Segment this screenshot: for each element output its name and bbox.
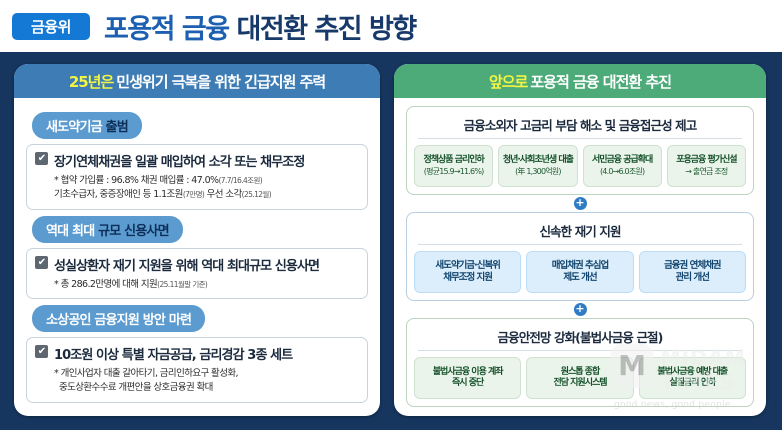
card-sub-line2: 중도상환수수료 개편안을 상호금융권 확대 <box>54 381 213 395</box>
chip-item: 서민금융 공급확대 (4.0→6.0조원) <box>583 145 662 187</box>
section-divider <box>418 138 742 139</box>
chip-value: → 출연금 조정 <box>685 167 727 177</box>
card-sub-line1: * 협약 가입률 : 96.8% 채권 매입률 : 47.0% <box>54 175 218 186</box>
section-divider <box>418 350 742 351</box>
chip-label: 서민금융 공급확대 <box>592 155 652 166</box>
chip-row: 불법사금융 이용 계좌즉시 중단 원스톱 종합전담 지원시스템 불법사금융 예방… <box>414 357 746 399</box>
left-panel-body: 새도약기금 출범 ✔ 장기연체채권을 일괄 매입하여 소각 또는 채무조정 * … <box>14 98 380 413</box>
chip-label: 원스톱 종합전담 지원시스템 <box>553 367 606 390</box>
left-panel-header-rest: 민생위기 극복을 위한 긴급지원 주력 <box>116 71 325 92</box>
chip-item: 불법사금융 예방 대출실질금리 인하 <box>639 357 746 399</box>
left-block-pill: 새도약기금 출범 <box>32 112 142 139</box>
card-sub-line2-note: (7만명) <box>183 190 204 199</box>
card-main-row: ✔ 장기연체채권을 일괄 매입하여 소각 또는 채무조정 <box>35 151 359 170</box>
pill-text-primary: 소상공인 금융지원 방안 마련 <box>46 313 191 328</box>
pill-text-primary: 새도약기금 <box>46 120 102 135</box>
page-title-highlight: 포용적 금융 <box>104 14 229 45</box>
chip-label: 새도약기금·신복위채무조정 지원 <box>435 260 500 284</box>
section-title: 금융안전망 강화(불법사금융 근절) <box>414 324 746 350</box>
chip-label: 청년·사회초년생 대출 <box>503 155 573 166</box>
page-title-rest: 대전환 추진 방향 <box>237 14 416 45</box>
card-main-row: ✔ 10조원 이상 특별 자금공급, 금리경감 3종 세트 <box>35 344 359 363</box>
left-block-pill: 소상공인 금융지원 방안 마련 <box>32 305 205 332</box>
content-stage: 25년은 민생위기 극복을 위한 긴급지원 주력 새도약기금 출범 ✔ 장기연체… <box>0 52 782 430</box>
chip-label: 매입채권 추심업제도 개선 <box>552 260 609 284</box>
chip-item: 매입채권 추심업제도 개선 <box>526 251 633 293</box>
chip-item: 금융권 연체채권관리 개선 <box>639 251 746 293</box>
card-sub-line2b: 우선 소각 <box>204 189 241 200</box>
card-main-text: 10조원 이상 특별 자금공급, 금리경감 3종 세트 <box>54 344 292 363</box>
chip-label: 불법사금융 예방 대출실질금리 인하 <box>657 367 727 390</box>
right-panel-header: 앞으로 포용적 금융 대전환 추진 <box>394 64 766 98</box>
right-panel-body: 금융소외자 고금리 부담 해소 및 금융접근성 제고 정책상품 금리인하 (평균… <box>394 98 766 416</box>
card-sub-line1-note: (7.7/16.4조원) <box>218 176 262 185</box>
check-icon: ✔ <box>35 256 48 269</box>
card-sub-line2: 기초수급자, 중증장애인 등 1.1조원 <box>54 189 183 200</box>
chip-value: (4.0→6.0조원) <box>600 167 644 177</box>
card-main-text: 장기연체채권을 일괄 매입하여 소각 또는 채무조정 <box>54 151 304 170</box>
chip-item: 불법사금융 이용 계좌즉시 중단 <box>414 357 521 399</box>
card-sub-line1: * 개인사업자 대출 갈아타기, 금리인하요구 활성화, <box>54 368 238 379</box>
right-section: 신속한 재기 지원 새도약기금·신복위채무조정 지원 매입채권 추심업제도 개선… <box>406 212 754 301</box>
left-block-card: ✔ 성실상환자 재기 지원을 위해 역대 최대규모 신용사면 * 총 286.2… <box>26 248 368 300</box>
plus-connector: + <box>406 301 754 318</box>
infographic-page: 금융위 포용적 금융 대전환 추진 방향 25년은 민생위기 극복을 위한 긴급… <box>0 0 782 430</box>
card-sub-line1-note: (25.11월말 기준) <box>157 280 207 289</box>
left-panel-header-highlight: 25년은 <box>69 71 113 92</box>
chip-row: 정책상품 금리인하 (평균15.9→11.6%) 청년·사회초년생 대출 (年 … <box>414 145 746 187</box>
pill-text-secondary: 출범 <box>106 120 128 135</box>
chip-label: 정책상품 금리인하 <box>423 155 483 166</box>
chip-value: (평균15.9→11.6%) <box>424 167 484 177</box>
chip-item: 원스톱 종합전담 지원시스템 <box>526 357 633 399</box>
chip-label: 불법사금융 이용 계좌즉시 중단 <box>433 367 503 390</box>
left-panel: 25년은 민생위기 극복을 위한 긴급지원 주력 새도약기금 출범 ✔ 장기연체… <box>14 64 380 416</box>
chip-value: (年 1,300억원) <box>515 167 561 177</box>
chip-label: 포용금융 평가신설 <box>676 155 736 166</box>
right-section: 금융소외자 고금리 부담 해소 및 금융접근성 제고 정책상품 금리인하 (평균… <box>406 106 754 195</box>
chip-item: 정책상품 금리인하 (평균15.9→11.6%) <box>414 145 493 187</box>
page-title: 포용적 금융 대전환 추진 방향 <box>104 7 416 46</box>
right-panel-header-highlight: 앞으로 <box>489 71 527 92</box>
left-panel-header: 25년은 민생위기 극복을 위한 긴급지원 주력 <box>14 64 380 98</box>
card-main-row: ✔ 성실상환자 재기 지원을 위해 역대 최대규모 신용사면 <box>35 255 359 274</box>
plus-icon: + <box>574 197 587 210</box>
left-block-pill: 역대 최대 규모 신용사면 <box>32 216 183 243</box>
page-header: 금융위 포용적 금융 대전환 추진 방향 <box>0 0 782 52</box>
chip-item: 포용금융 평가신설 → 출연금 조정 <box>667 145 746 187</box>
check-icon: ✔ <box>35 345 48 358</box>
chip-item: 청년·사회초년생 대출 (年 1,300억원) <box>498 145 577 187</box>
chip-item: 새도약기금·신복위채무조정 지원 <box>414 251 521 293</box>
card-main-text: 성실상환자 재기 지원을 위해 역대 최대규모 신용사면 <box>54 255 319 274</box>
card-sub-line2b-note: (25.12월) <box>242 190 271 199</box>
left-block-card: ✔ 10조원 이상 특별 자금공급, 금리경감 3종 세트 * 개인사업자 대출… <box>26 337 368 403</box>
pill-text-secondary: 규모 신용사면 <box>98 224 169 239</box>
chip-row: 새도약기금·신복위채무조정 지원 매입채권 추심업제도 개선 금융권 연체채권관… <box>414 251 746 293</box>
card-sub-text: * 개인사업자 대출 갈아타기, 금리인하요구 활성화, 중도상환수수료 개편안… <box>35 367 359 395</box>
section-divider <box>418 244 742 245</box>
left-block-card: ✔ 장기연체채권을 일괄 매입하여 소각 또는 채무조정 * 협약 가입률 : … <box>26 144 368 210</box>
plus-icon: + <box>574 303 587 316</box>
card-sub-line1: * 총 286.2만명에 대해 지원 <box>54 279 157 290</box>
section-title: 신속한 재기 지원 <box>414 218 746 244</box>
right-panel: 앞으로 포용적 금융 대전환 추진 금융소외자 고금리 부담 해소 및 금융접근… <box>394 64 766 416</box>
card-sub-text: * 협약 가입률 : 96.8% 채권 매입률 : 47.0%(7.7/16.4… <box>35 174 359 202</box>
section-title: 금융소외자 고금리 부담 해소 및 금융접근성 제고 <box>414 112 746 138</box>
card-sub-text: * 총 286.2만명에 대해 지원(25.11월말 기준) <box>35 278 359 292</box>
right-section: 금융안전망 강화(불법사금융 근절) 불법사금융 이용 계좌즉시 중단 원스톱 … <box>406 318 754 407</box>
right-panel-header-rest: 포용적 금융 대전환 추진 <box>530 71 671 92</box>
chip-label: 금융권 연체채권관리 개선 <box>664 260 721 284</box>
pill-text-primary: 역대 최대 <box>46 224 94 239</box>
check-icon: ✔ <box>35 152 48 165</box>
plus-connector: + <box>406 195 754 212</box>
agency-badge: 금융위 <box>12 13 90 40</box>
